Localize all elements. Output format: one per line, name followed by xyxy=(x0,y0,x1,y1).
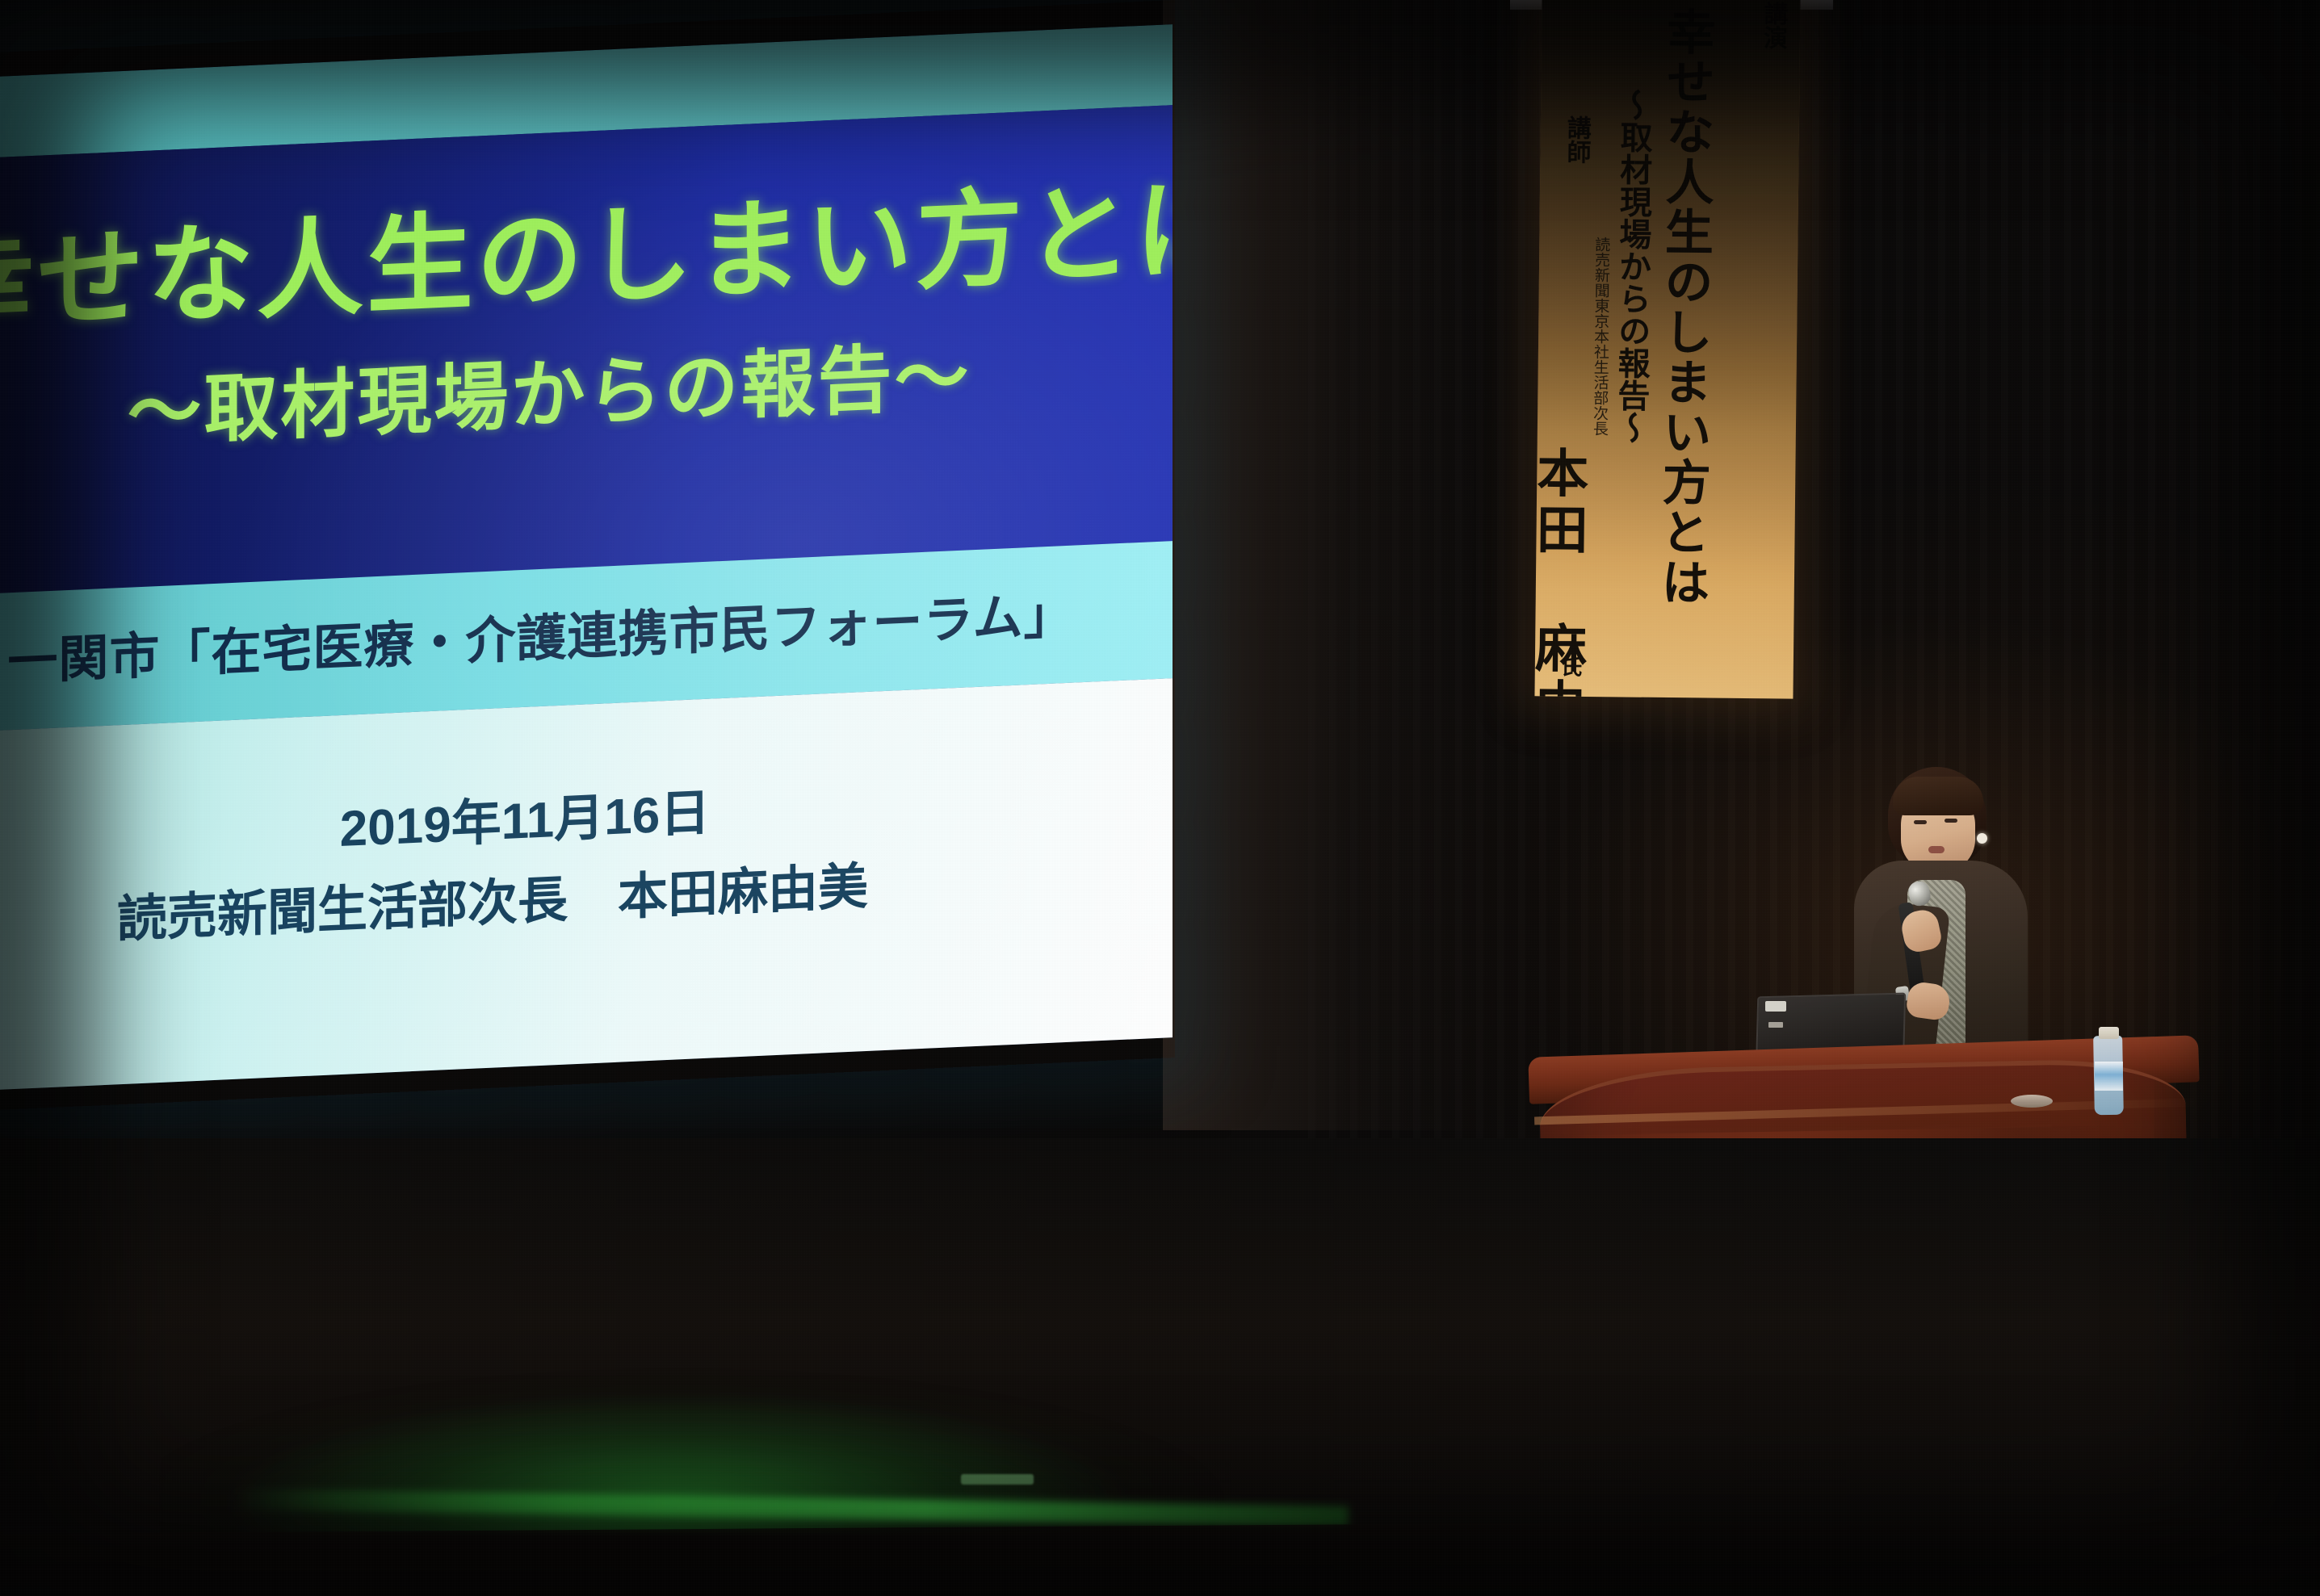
speaker-eye-left xyxy=(1914,820,1927,824)
projection-screen: 幸せな人生のしまい方とは 〜取材現場からの報告〜 一関市「在宅医療・介護連携市民… xyxy=(0,0,1175,1110)
laptop-sticker xyxy=(1768,1022,1783,1028)
speaker-fringe xyxy=(1893,777,1983,815)
hanging-banner: 講演 幸せな人生のしまい方とは 〜取材現場からの報告〜 講師 読売新聞東京本社生… xyxy=(1534,0,1800,699)
wall-shadow xyxy=(1163,0,1502,1130)
presentation-slide: 幸せな人生のしまい方とは 〜取材現場からの報告〜 一関市「在宅医療・介護連携市民… xyxy=(0,24,1173,1091)
table-puck xyxy=(2011,1095,2053,1108)
banner-shadow-overlay xyxy=(1534,0,1800,699)
water-bottle-label xyxy=(2095,1062,2123,1091)
water-bottle-cap xyxy=(2099,1027,2119,1039)
floor-marker xyxy=(961,1474,1034,1485)
speaker-mouth xyxy=(1928,846,1945,853)
speaker-eye-right xyxy=(1945,819,1957,823)
laptop-logo-badge xyxy=(1765,1001,1786,1012)
lecture-hall-scene: 幸せな人生のしまい方とは 〜取材現場からの報告〜 一関市「在宅医療・介護連携市民… xyxy=(0,0,2320,1596)
speaker-earring xyxy=(1977,833,1987,844)
